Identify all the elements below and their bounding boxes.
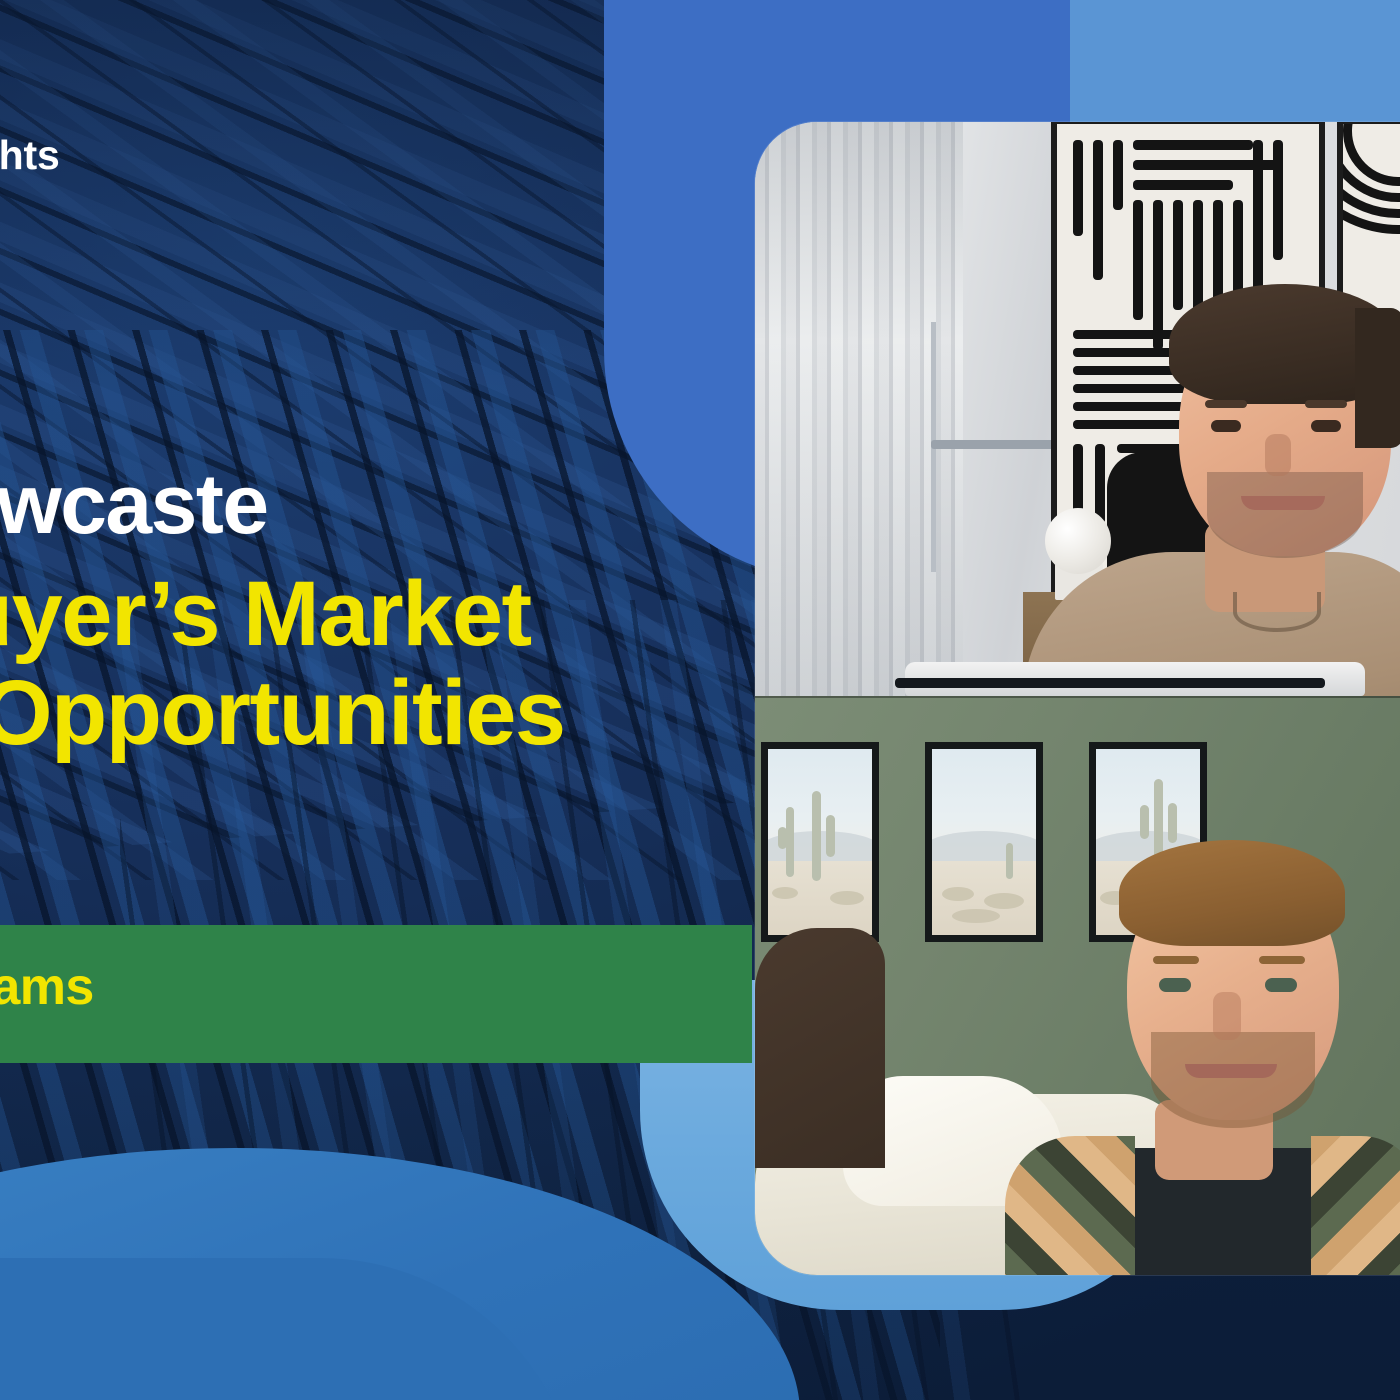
bottom-person-mouth <box>1185 1064 1277 1078</box>
ball-lamp <box>1045 508 1111 574</box>
speaker-name-bar <box>0 925 752 1063</box>
desert-print-2 <box>925 742 1043 942</box>
video-tile-divider <box>755 696 1400 698</box>
title-line-2: Buyer’s Market <box>0 566 565 664</box>
bottom-person-hair <box>1119 840 1345 946</box>
title-block: Newcaste Buyer’s Market & Opportunities <box>0 462 565 763</box>
title-line-1: Newcaste <box>0 462 565 548</box>
top-person-nose <box>1265 434 1291 476</box>
laptop-bezel <box>895 678 1325 688</box>
top-person-eye-left <box>1211 420 1241 432</box>
kicker-text: Insights <box>0 132 60 179</box>
bottom-person-flannel-left <box>1005 1136 1135 1275</box>
bottom-person-eye-right <box>1265 978 1297 992</box>
desert-print-1 <box>761 742 879 942</box>
top-person-stubble <box>1207 472 1363 558</box>
top-person-hair-side <box>1355 308 1400 448</box>
title-line-3: & Opportunities <box>0 665 565 763</box>
thumbnail-canvas: Insights Newcaste Buyer’s Market & Oppor… <box>0 0 1400 1400</box>
top-person-necklace <box>1233 592 1321 632</box>
top-person-eyebrow-right <box>1305 400 1347 408</box>
bottom-person-nose <box>1213 992 1241 1040</box>
video-call-panel[interactable] <box>755 122 1400 1275</box>
top-person-eye-right <box>1311 420 1341 432</box>
speaker-name-text: Williams <box>0 957 94 1017</box>
top-person-mouth <box>1241 496 1325 510</box>
bottom-person-eyebrow-left <box>1153 956 1199 964</box>
bottom-person-eyebrow-right <box>1259 956 1305 964</box>
video-tile-bottom[interactable] <box>755 696 1400 1275</box>
bottom-person-eye-left <box>1159 978 1191 992</box>
bottom-person-flannel-right <box>1311 1136 1400 1275</box>
video-tile-top[interactable] <box>755 122 1400 696</box>
bed-headboard <box>755 928 885 1168</box>
bottom-person-beard <box>1151 1032 1315 1128</box>
top-person-eyebrow-left <box>1205 400 1247 408</box>
